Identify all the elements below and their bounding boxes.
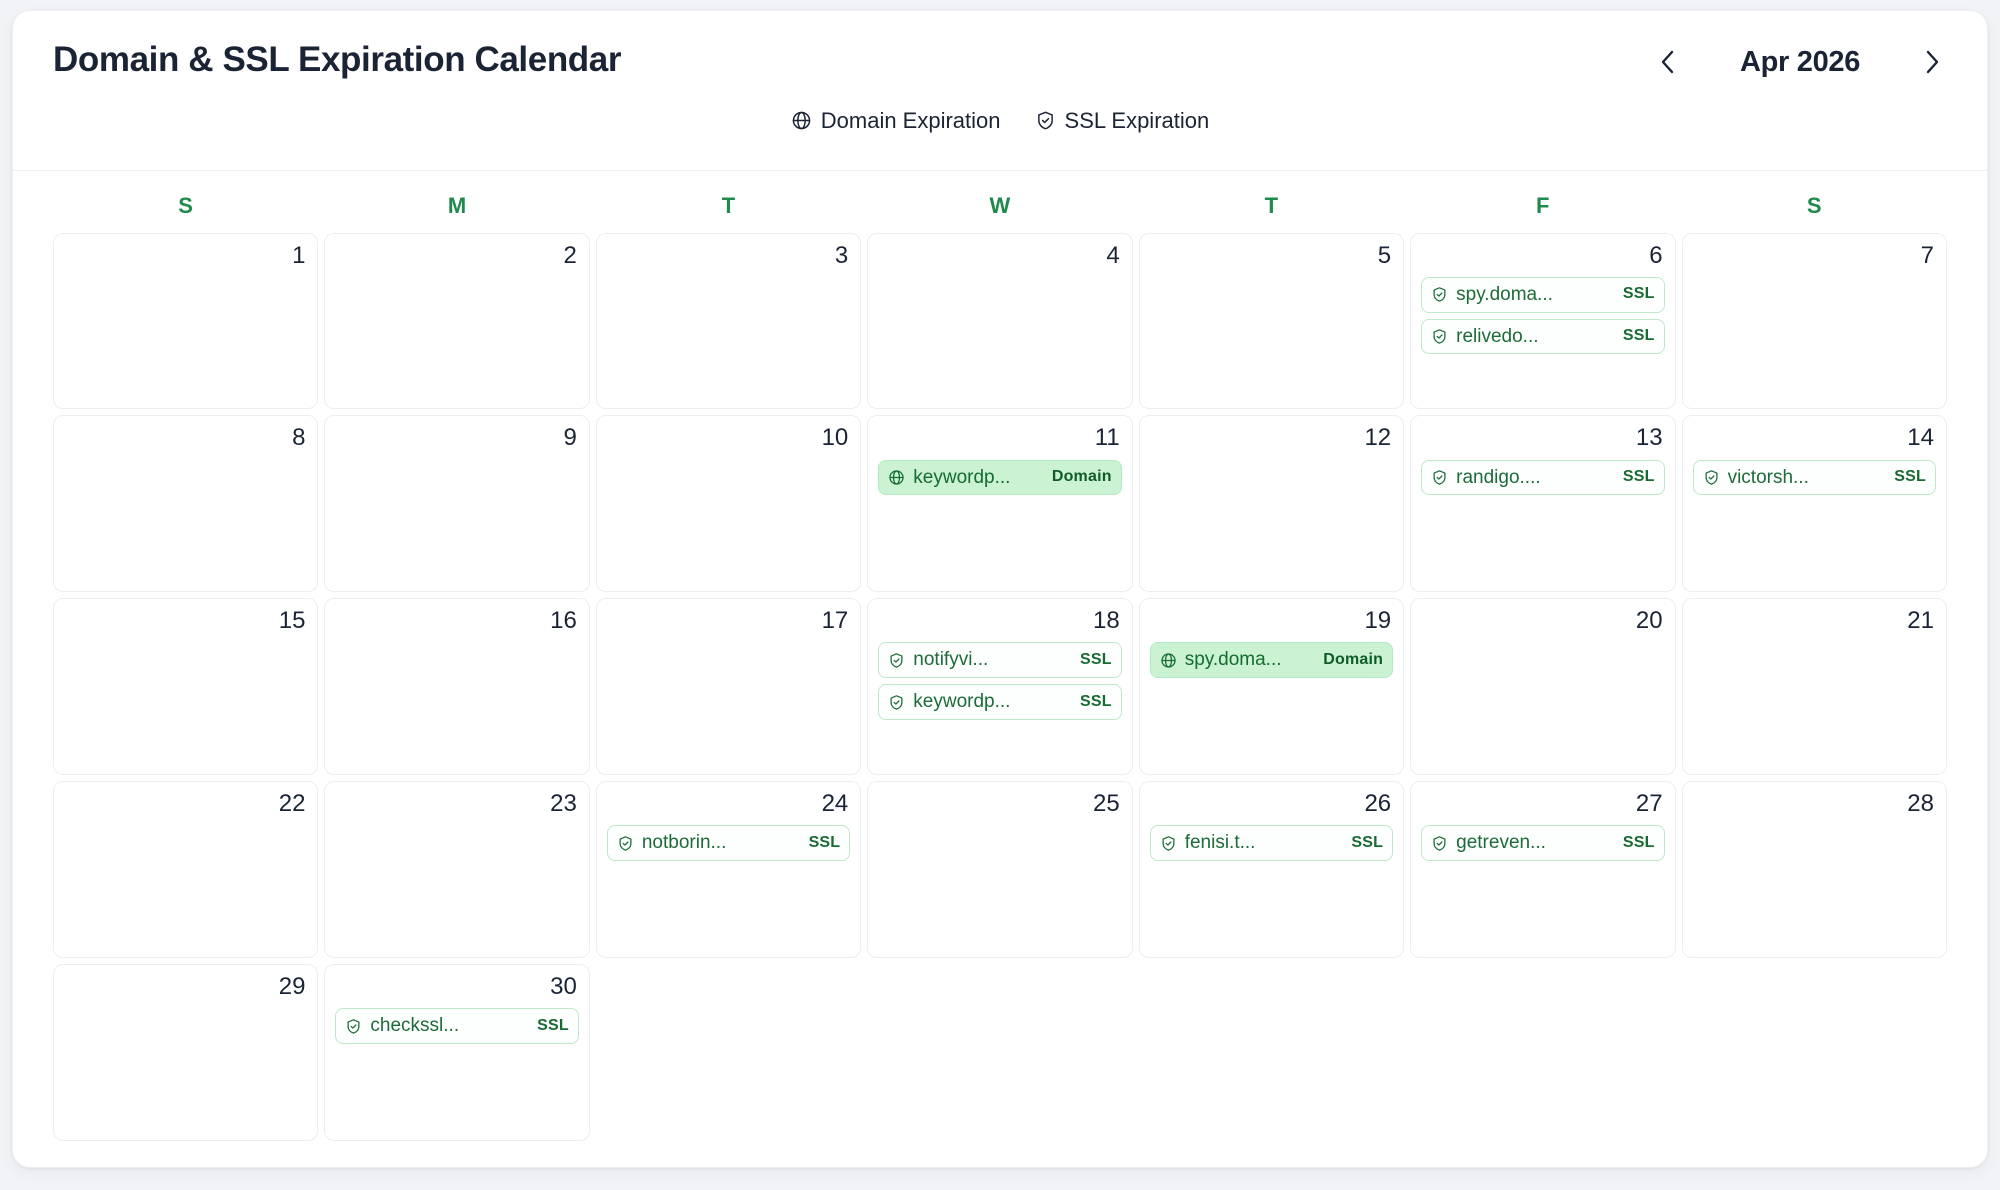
event-type-badge: SSL	[1351, 834, 1383, 852]
event-pill-ssl[interactable]: keywordp...SSL	[878, 684, 1121, 720]
day-cell[interactable]: 21	[1682, 598, 1947, 775]
shield-check-icon	[617, 835, 634, 852]
event-list	[335, 277, 578, 399]
event-type-badge: SSL	[1623, 834, 1655, 852]
day-cell[interactable]: 14victorsh...SSL	[1682, 415, 1947, 592]
event-list: victorsh...SSL	[1693, 460, 1936, 582]
day-cell[interactable]: 3	[596, 233, 861, 410]
calendar-weeks: 123456spy.doma...SSLrelivedo...SSL789101…	[53, 233, 1947, 1142]
day-cell[interactable]: 17	[596, 598, 861, 775]
day-cell[interactable]: 26fenisi.t...SSL	[1139, 781, 1404, 958]
day-cell[interactable]: 13randigo....SSL	[1410, 415, 1675, 592]
weekday-header-row: SMTWTFS	[53, 193, 1947, 233]
globe-icon	[888, 469, 905, 486]
event-pill-ssl[interactable]: randigo....SSL	[1421, 460, 1664, 496]
week-row: 123456spy.doma...SSLrelivedo...SSL7	[53, 233, 1947, 410]
shield-check-icon	[1160, 835, 1177, 852]
shield-check-icon	[1431, 328, 1448, 345]
shield-check-icon	[1431, 835, 1448, 852]
day-number: 9	[335, 425, 578, 450]
shield-check-icon	[345, 1018, 362, 1035]
day-cell[interactable]: 4	[867, 233, 1132, 410]
day-number: 15	[64, 608, 307, 633]
day-cell[interactable]: 5	[1139, 233, 1404, 410]
event-pill-ssl[interactable]: getreven...SSL	[1421, 825, 1664, 861]
day-number: 1	[64, 243, 307, 268]
shield-check-icon	[1431, 469, 1448, 486]
day-cell[interactable]: 25	[867, 781, 1132, 958]
globe-icon	[791, 110, 812, 131]
event-name: notborin...	[642, 832, 801, 854]
chevron-right-icon	[1922, 46, 1942, 78]
event-list: checkssl...SSL	[335, 1008, 578, 1130]
event-list	[1693, 277, 1936, 399]
week-row: 222324notborin...SSL2526fenisi.t...SSL27…	[53, 781, 1947, 958]
page-background: Domain & SSL Expiration Calendar Apr 202…	[0, 0, 2000, 1190]
event-list	[878, 277, 1121, 399]
day-number: 14	[1693, 425, 1936, 450]
event-name: relivedo...	[1456, 326, 1615, 348]
day-number: 19	[1150, 608, 1393, 633]
day-number: 26	[1150, 791, 1393, 816]
day-cell[interactable]: 20	[1410, 598, 1675, 775]
day-number: 18	[878, 608, 1121, 633]
legend-item-ssl: SSL Expiration	[1035, 108, 1210, 134]
day-number: 3	[607, 243, 850, 268]
event-type-badge: SSL	[1080, 651, 1112, 669]
event-list: spy.doma...SSLrelivedo...SSL	[1421, 277, 1664, 399]
event-pill-domain[interactable]: keywordp...Domain	[878, 460, 1121, 496]
event-name: spy.doma...	[1185, 649, 1316, 671]
event-pill-ssl[interactable]: victorsh...SSL	[1693, 460, 1936, 496]
day-cell[interactable]: 23	[324, 781, 589, 958]
shield-check-icon	[888, 694, 905, 711]
event-pill-domain[interactable]: spy.doma...Domain	[1150, 642, 1393, 678]
day-cell[interactable]: 28	[1682, 781, 1947, 958]
event-list: keywordp...Domain	[878, 460, 1121, 582]
event-list	[64, 642, 307, 764]
day-cell[interactable]: 2	[324, 233, 589, 410]
event-pill-ssl[interactable]: checkssl...SSL	[335, 1008, 578, 1044]
day-number: 28	[1693, 791, 1936, 816]
day-cell[interactable]: 29	[53, 964, 318, 1141]
day-number: 24	[607, 791, 850, 816]
day-number: 5	[1150, 243, 1393, 268]
shield-check-icon	[888, 652, 905, 669]
day-cell[interactable]: 19spy.doma...Domain	[1139, 598, 1404, 775]
day-number: 12	[1150, 425, 1393, 450]
event-name: spy.doma...	[1456, 284, 1615, 306]
event-list	[64, 1008, 307, 1130]
day-number: 10	[607, 425, 850, 450]
day-number: 11	[878, 425, 1121, 450]
globe-icon	[1160, 652, 1177, 669]
shield-check-icon	[1035, 110, 1056, 131]
day-number: 13	[1421, 425, 1664, 450]
event-type-badge: SSL	[1623, 468, 1655, 486]
day-cell[interactable]: 24notborin...SSL	[596, 781, 861, 958]
event-list: notifyvi...SSLkeywordp...SSL	[878, 642, 1121, 764]
day-cell[interactable]: 6spy.doma...SSLrelivedo...SSL	[1410, 233, 1675, 410]
day-cell[interactable]: 9	[324, 415, 589, 592]
event-type-badge: SSL	[537, 1017, 569, 1035]
day-cell-empty	[867, 964, 1132, 1141]
day-number: 30	[335, 974, 578, 999]
day-cell[interactable]: 16	[324, 598, 589, 775]
event-list	[64, 277, 307, 399]
day-cell[interactable]: 18notifyvi...SSLkeywordp...SSL	[867, 598, 1132, 775]
weekday-header-6: S	[1682, 193, 1947, 219]
week-row: 891011keywordp...Domain1213randigo....SS…	[53, 415, 1947, 592]
event-list	[1693, 642, 1936, 764]
event-list	[1150, 460, 1393, 582]
event-pill-ssl[interactable]: fenisi.t...SSL	[1150, 825, 1393, 861]
event-name: keywordp...	[913, 467, 1044, 489]
event-type-badge: SSL	[1894, 468, 1926, 486]
day-cell-empty	[1139, 964, 1404, 1141]
legend-label-domain: Domain Expiration	[821, 108, 1001, 134]
day-number: 25	[878, 791, 1121, 816]
event-type-badge: SSL	[809, 834, 841, 852]
day-cell[interactable]: 22	[53, 781, 318, 958]
legend: Domain Expiration SSL Expiration	[53, 80, 1947, 170]
weekday-header-3: W	[867, 193, 1132, 219]
prev-month-button[interactable]	[1653, 45, 1683, 79]
day-number: 16	[335, 608, 578, 633]
event-list: fenisi.t...SSL	[1150, 825, 1393, 947]
calendar-body: SMTWTFS 123456spy.doma...SSLrelivedo...S…	[13, 171, 1987, 1168]
event-list	[64, 825, 307, 947]
event-name: notifyvi...	[913, 649, 1072, 671]
event-name: getreven...	[1456, 832, 1615, 854]
event-list	[64, 460, 307, 582]
event-pill-ssl[interactable]: notborin...SSL	[607, 825, 850, 861]
day-cell-empty	[1410, 964, 1675, 1141]
event-list: getreven...SSL	[1421, 825, 1664, 947]
event-pill-ssl[interactable]: spy.doma...SSL	[1421, 277, 1664, 313]
day-number: 22	[64, 791, 307, 816]
legend-item-domain: Domain Expiration	[791, 108, 1001, 134]
weekday-header-0: S	[53, 193, 318, 219]
weekday-header-1: M	[324, 193, 589, 219]
event-list: spy.doma...Domain	[1150, 642, 1393, 764]
header-top-row: Domain & SSL Expiration Calendar Apr 202…	[53, 41, 1947, 80]
day-cell[interactable]: 30checkssl...SSL	[324, 964, 589, 1141]
event-list	[607, 642, 850, 764]
event-list	[335, 460, 578, 582]
day-cell[interactable]: 11keywordp...Domain	[867, 415, 1132, 592]
day-cell[interactable]: 27getreven...SSL	[1410, 781, 1675, 958]
day-cell[interactable]: 8	[53, 415, 318, 592]
day-number: 4	[878, 243, 1121, 268]
day-number: 17	[607, 608, 850, 633]
day-cell-empty	[1682, 964, 1947, 1141]
event-list	[607, 460, 850, 582]
month-label: Apr 2026	[1705, 46, 1895, 79]
day-cell[interactable]: 10	[596, 415, 861, 592]
calendar-header: Domain & SSL Expiration Calendar Apr 202…	[13, 11, 1987, 171]
event-type-badge: Domain	[1323, 651, 1383, 669]
event-pill-ssl[interactable]: notifyvi...SSL	[878, 642, 1121, 678]
event-pill-ssl[interactable]: relivedo...SSL	[1421, 319, 1664, 355]
event-name: checkssl...	[370, 1015, 529, 1037]
event-list	[1421, 642, 1664, 764]
event-name: randigo....	[1456, 467, 1615, 489]
weekday-header-2: T	[596, 193, 861, 219]
event-list	[1693, 825, 1936, 947]
day-cell[interactable]: 7	[1682, 233, 1947, 410]
event-name: fenisi.t...	[1185, 832, 1344, 854]
day-cell[interactable]: 12	[1139, 415, 1404, 592]
weekday-header-5: F	[1410, 193, 1675, 219]
next-month-button[interactable]	[1917, 45, 1947, 79]
day-number: 20	[1421, 608, 1664, 633]
event-list	[1150, 277, 1393, 399]
event-type-badge: SSL	[1080, 693, 1112, 711]
month-navigation: Apr 2026	[1653, 41, 1947, 79]
page-title: Domain & SSL Expiration Calendar	[53, 41, 621, 80]
day-cell[interactable]: 1	[53, 233, 318, 410]
week-row: 15161718notifyvi...SSLkeywordp...SSL19sp…	[53, 598, 1947, 775]
event-list	[335, 642, 578, 764]
event-name: keywordp...	[913, 691, 1072, 713]
day-number: 21	[1693, 608, 1936, 633]
week-row: 2930checkssl...SSL	[53, 964, 1947, 1141]
day-cell-empty	[596, 964, 861, 1141]
event-list	[607, 277, 850, 399]
shield-check-icon	[1703, 469, 1720, 486]
event-name: victorsh...	[1728, 467, 1887, 489]
day-number: 7	[1693, 243, 1936, 268]
day-number: 2	[335, 243, 578, 268]
event-list	[335, 825, 578, 947]
day-number: 23	[335, 791, 578, 816]
event-type-badge: Domain	[1052, 468, 1112, 486]
chevron-left-icon	[1658, 46, 1678, 78]
event-list	[878, 825, 1121, 947]
calendar-card: Domain & SSL Expiration Calendar Apr 202…	[12, 10, 1988, 1168]
event-list: notborin...SSL	[607, 825, 850, 947]
day-number: 6	[1421, 243, 1664, 268]
event-type-badge: SSL	[1623, 285, 1655, 303]
day-cell[interactable]: 15	[53, 598, 318, 775]
day-number: 29	[64, 974, 307, 999]
event-type-badge: SSL	[1623, 327, 1655, 345]
day-number: 27	[1421, 791, 1664, 816]
event-list: randigo....SSL	[1421, 460, 1664, 582]
legend-label-ssl: SSL Expiration	[1065, 108, 1210, 134]
shield-check-icon	[1431, 286, 1448, 303]
weekday-header-4: T	[1139, 193, 1404, 219]
day-number: 8	[64, 425, 307, 450]
